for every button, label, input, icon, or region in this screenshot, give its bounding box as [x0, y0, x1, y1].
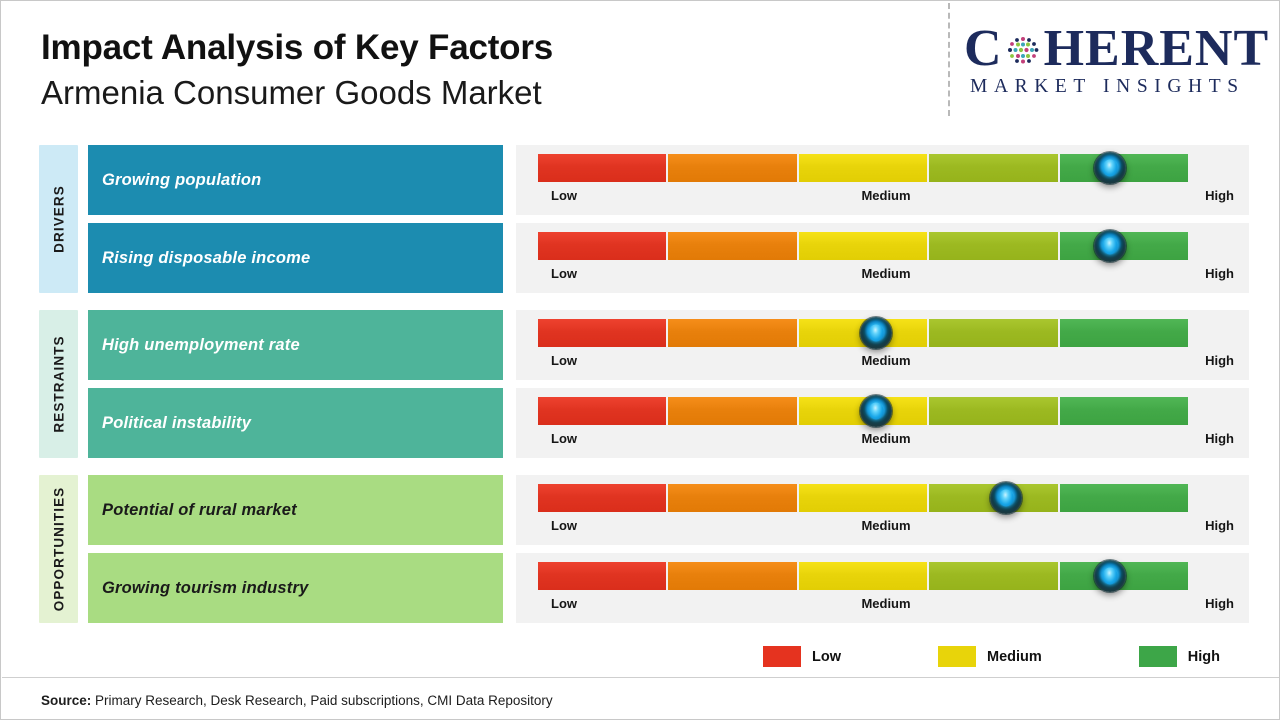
impact-marker[interactable] — [990, 482, 1022, 514]
impact-marker[interactable] — [860, 395, 892, 427]
gauge-segment-red — [538, 154, 666, 182]
page-subtitle: Armenia Consumer Goods Market — [41, 74, 553, 112]
gauge-scale: LowMediumHigh — [538, 186, 1234, 208]
logo-word-rest: HERENT — [1044, 23, 1270, 75]
gauge-bar — [538, 484, 1188, 512]
gauge-segment-green — [1060, 319, 1188, 347]
scale-label-low: Low — [551, 353, 577, 368]
gauge-segment-green — [1060, 484, 1188, 512]
gauge-segment-green — [1060, 397, 1188, 425]
factor-label: Political instability — [88, 414, 251, 433]
factor-label-box[interactable]: Growing population — [88, 145, 503, 215]
gauge-segment-orange — [668, 232, 796, 260]
page-title: Impact Analysis of Key Factors — [41, 29, 553, 68]
impact-analysis-slide: Impact Analysis of Key Factors Armenia C… — [0, 0, 1280, 720]
scale-label-medium: Medium — [861, 266, 910, 281]
impact-marker[interactable] — [860, 317, 892, 349]
gauge-scale: LowMediumHigh — [538, 516, 1234, 538]
gauge-scale: LowMediumHigh — [538, 429, 1234, 451]
scale-label-medium: Medium — [861, 188, 910, 203]
factor-row: Growing populationLowMediumHigh — [39, 145, 1249, 215]
gauge-segment-red — [538, 319, 666, 347]
factor-label-box[interactable]: Political instability — [88, 388, 503, 458]
legend-label: Low — [812, 649, 841, 665]
legend-item: High — [1139, 646, 1220, 667]
impact-gauge: LowMediumHigh — [516, 310, 1249, 380]
gauge-segment-orange — [668, 319, 796, 347]
gauge-segment-yellow — [799, 232, 927, 260]
factor-row: Political instabilityLowMediumHigh — [39, 388, 1249, 458]
legend-swatch-high — [1139, 646, 1177, 667]
factor-row: Potential of rural marketLowMediumHigh — [39, 475, 1249, 545]
logo-wordmark: C — [964, 25, 1264, 73]
dotted-globe-icon — [1003, 31, 1043, 71]
scale-label-medium: Medium — [861, 518, 910, 533]
factor-label: Potential of rural market — [88, 501, 297, 520]
scale-label-low: Low — [551, 518, 577, 533]
gauge-segment-yellow-green — [929, 319, 1057, 347]
impact-marker[interactable] — [1094, 230, 1126, 262]
scale-label-low: Low — [551, 431, 577, 446]
scale-label-low: Low — [551, 266, 577, 281]
title-block: Impact Analysis of Key Factors Armenia C… — [41, 29, 553, 111]
source-line: Source: Primary Research, Desk Research,… — [41, 693, 553, 708]
gauge-segment-yellow-green — [929, 232, 1057, 260]
scale-label-medium: Medium — [861, 353, 910, 368]
gauge-segment-red — [538, 562, 666, 590]
scale-label-medium: Medium — [861, 431, 910, 446]
legend-label: Medium — [987, 649, 1042, 665]
gauge-scale: LowMediumHigh — [538, 264, 1234, 286]
legend-swatch-low — [763, 646, 801, 667]
header-dashed-divider — [948, 3, 950, 116]
factor-label: Rising disposable income — [88, 249, 310, 268]
scale-label-high: High — [1205, 266, 1234, 281]
impact-gauge: LowMediumHigh — [516, 223, 1249, 293]
factor-label: High unemployment rate — [88, 336, 300, 355]
gauge-segment-red — [538, 484, 666, 512]
gauge-scale: LowMediumHigh — [538, 351, 1234, 373]
gauge-segment-yellow-green — [929, 397, 1057, 425]
source-text: Primary Research, Desk Research, Paid su… — [91, 693, 552, 708]
factor-label-box[interactable]: Rising disposable income — [88, 223, 503, 293]
gauge-segment-yellow-green — [929, 154, 1057, 182]
impact-legend: LowMediumHigh — [763, 646, 1220, 667]
scale-label-high: High — [1205, 353, 1234, 368]
gauge-segment-yellow-green — [929, 562, 1057, 590]
factor-label: Growing tourism industry — [88, 579, 308, 598]
scale-label-high: High — [1205, 596, 1234, 611]
legend-item: Medium — [938, 646, 1042, 667]
gauge-segment-yellow — [799, 562, 927, 590]
gauge-segment-orange — [668, 562, 796, 590]
impact-marker[interactable] — [1094, 152, 1126, 184]
gauge-segment-orange — [668, 397, 796, 425]
gauge-segment-yellow — [799, 154, 927, 182]
logo-letter-c: C — [964, 23, 1003, 75]
impact-gauge: LowMediumHigh — [516, 475, 1249, 545]
factor-label-box[interactable]: Potential of rural market — [88, 475, 503, 545]
factor-label-box[interactable]: Growing tourism industry — [88, 553, 503, 623]
source-label: Source: — [41, 693, 91, 708]
impact-gauge: LowMediumHigh — [516, 553, 1249, 623]
gauge-segment-orange — [668, 154, 796, 182]
scale-label-high: High — [1205, 188, 1234, 203]
legend-swatch-medium — [938, 646, 976, 667]
factor-label: Growing population — [88, 171, 261, 190]
gauge-bar — [538, 232, 1188, 260]
coherent-market-insights-logo: C — [964, 25, 1264, 98]
gauge-segment-yellow — [799, 484, 927, 512]
gauge-bar — [538, 154, 1188, 182]
slide-header: Impact Analysis of Key Factors Armenia C… — [1, 1, 1280, 131]
gauge-segment-red — [538, 397, 666, 425]
gauge-scale: LowMediumHigh — [538, 594, 1234, 616]
scale-label-high: High — [1205, 431, 1234, 446]
factor-row: Rising disposable incomeLowMediumHigh — [39, 223, 1249, 293]
legend-item: Low — [763, 646, 841, 667]
impact-gauge: LowMediumHigh — [516, 388, 1249, 458]
factor-row: High unemployment rateLowMediumHigh — [39, 310, 1249, 380]
scale-label-high: High — [1205, 518, 1234, 533]
footer-divider — [2, 677, 1279, 678]
scale-label-medium: Medium — [861, 596, 910, 611]
gauge-segment-red — [538, 232, 666, 260]
logo-tagline: MARKET INSIGHTS — [970, 76, 1264, 98]
legend-label: High — [1188, 649, 1220, 665]
factor-label-box[interactable]: High unemployment rate — [88, 310, 503, 380]
scale-label-low: Low — [551, 188, 577, 203]
factor-row: Growing tourism industryLowMediumHigh — [39, 553, 1249, 623]
impact-marker[interactable] — [1094, 560, 1126, 592]
gauge-bar — [538, 562, 1188, 590]
impact-gauge: LowMediumHigh — [516, 145, 1249, 215]
scale-label-low: Low — [551, 596, 577, 611]
gauge-segment-orange — [668, 484, 796, 512]
